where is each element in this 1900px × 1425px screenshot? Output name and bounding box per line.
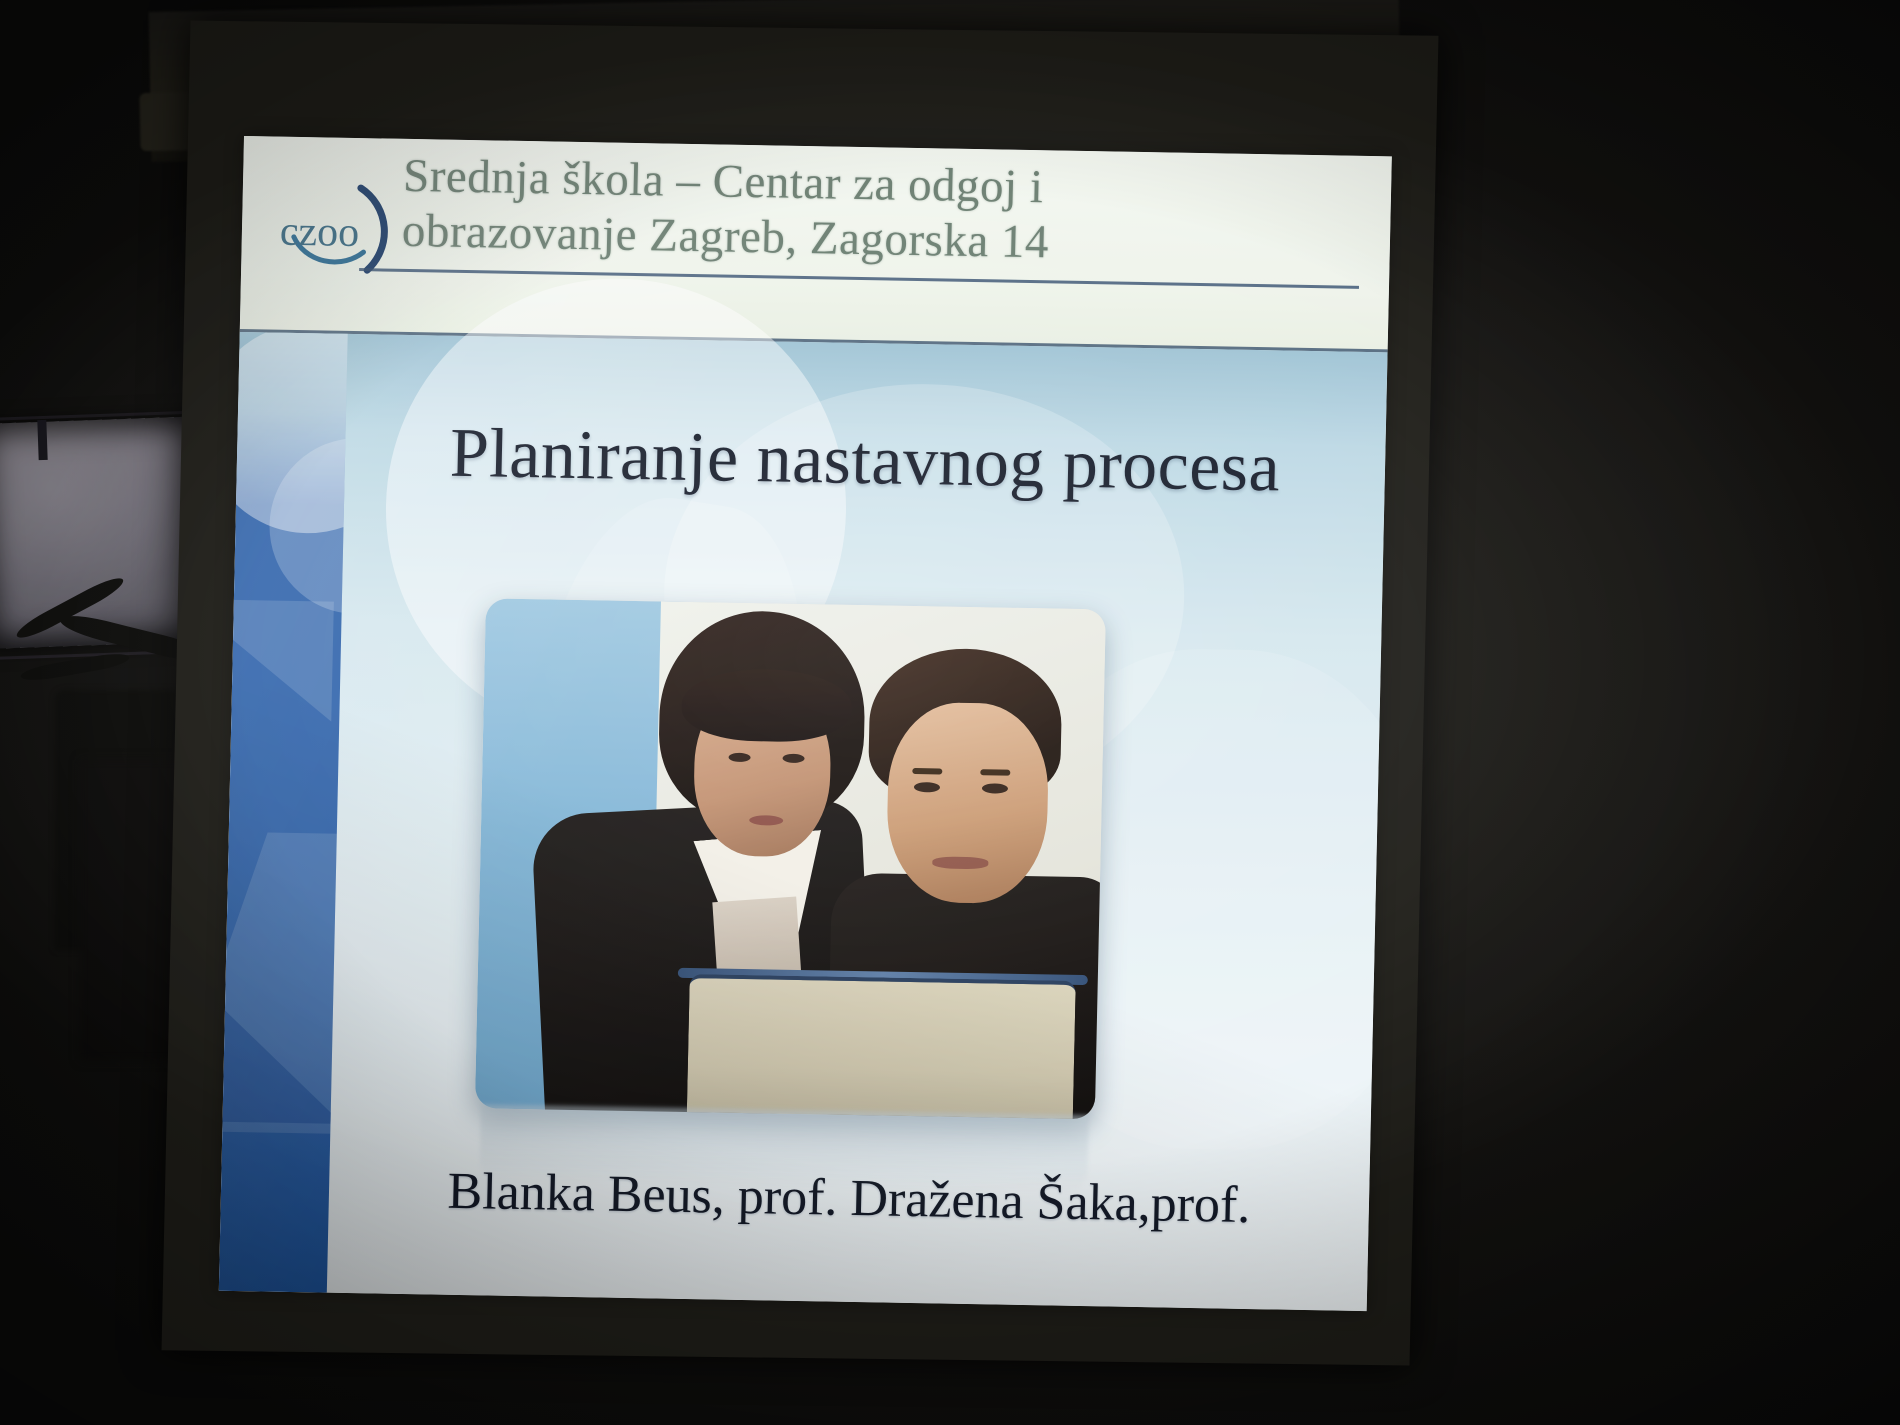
band-triangle-shape [219,991,346,1123]
man-eye [982,783,1008,793]
slide-body: Planiranje nastavnog procesa [219,332,1388,1311]
man-face [885,702,1049,905]
czoo-logo-icon: czoo [263,164,398,298]
man-eyebrow [980,769,1010,776]
band-triangle-shape [219,599,334,722]
laptop [686,974,1076,1119]
woman-eye [728,753,750,762]
window-latch-icon [37,420,47,460]
authors-line: Blanka Beus, prof. Dražena Šaka,prof. [328,1160,1369,1237]
svg-text:czoo: czoo [279,209,359,256]
man-mouth [932,856,988,869]
man-eyebrow [912,768,942,775]
presentation-slide: czoo Srednja škola – Centar za odgoj i o… [219,136,1392,1311]
woman-eye [782,754,804,763]
slide-header: czoo Srednja škola – Centar za odgoj i o… [240,136,1392,352]
room-scene: czoo Srednja škola – Centar za odgoj i o… [0,0,1900,1425]
school-name: Srednja škola – Centar za odgoj i obrazo… [401,149,1391,278]
projection-screen: czoo Srednja škola – Centar za odgoj i o… [162,21,1439,1366]
man-eye [914,782,940,792]
left-decorative-band [219,332,348,1293]
slide-photo [475,598,1106,1119]
